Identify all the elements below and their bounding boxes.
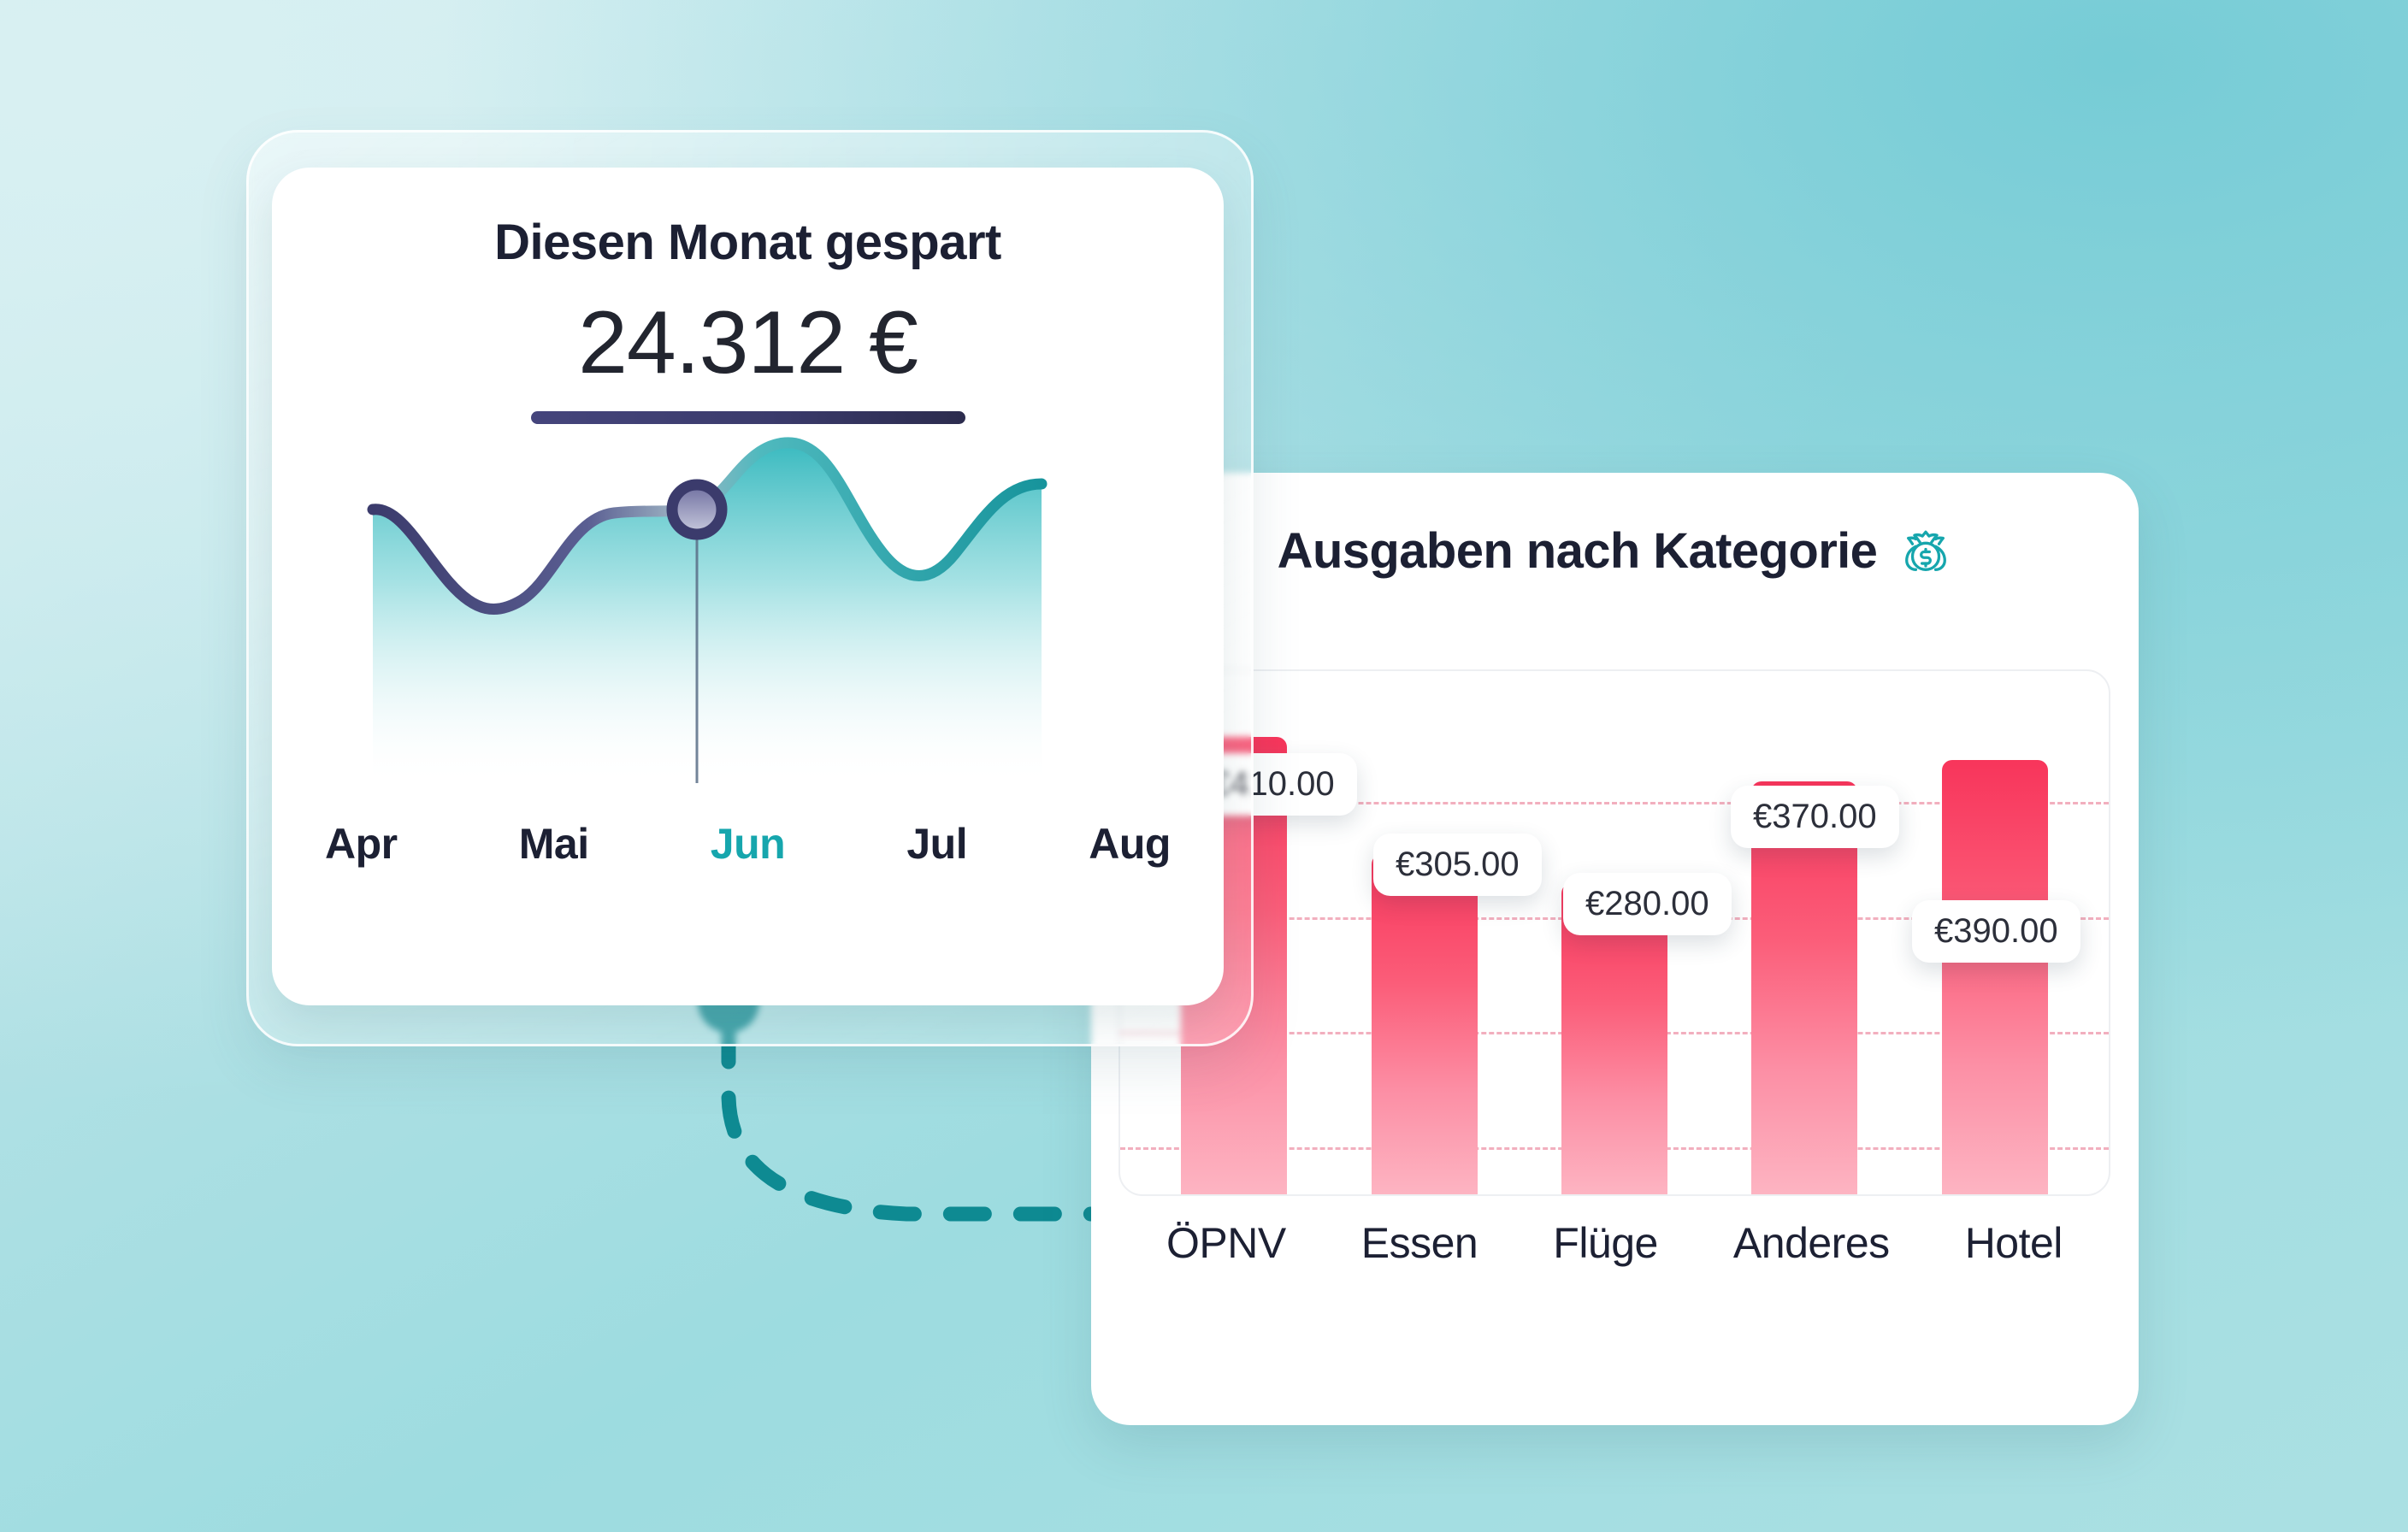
cat-label-anderes: Anderes xyxy=(1733,1218,1890,1268)
saved-amount: 24.312 € xyxy=(272,271,1224,391)
cat-label-opnv: ÖPNV xyxy=(1166,1218,1286,1268)
expenses-title: Ausgaben nach Kategorie xyxy=(1278,522,1878,580)
underline-accent-bar xyxy=(531,411,965,424)
value-tag-fluege: €280.00 xyxy=(1563,873,1732,935)
month-label-aug[interactable]: Aug xyxy=(1089,819,1171,869)
month-label-jul[interactable]: Jul xyxy=(906,819,967,869)
bar-essen[interactable] xyxy=(1372,854,1478,1194)
saved-title: Diesen Monat gespart xyxy=(272,168,1224,271)
cat-label-hotel: Hotel xyxy=(1965,1218,2063,1268)
month-label-mai[interactable]: Mai xyxy=(519,819,589,869)
month-label-jun[interactable]: Jun xyxy=(711,819,785,869)
dashboard-canvas: Ausgaben nach Kategorie xyxy=(0,0,2408,1532)
month-label-apr[interactable]: Apr xyxy=(325,819,398,869)
bar-hotel[interactable] xyxy=(1942,760,2048,1194)
savings-area-chart xyxy=(272,424,1224,783)
value-tag-essen: €305.00 xyxy=(1373,834,1542,896)
month-axis: Apr Mai Jun Jul Aug xyxy=(272,819,1224,869)
cat-label-fluege: Flüge xyxy=(1553,1218,1658,1268)
data-point-marker xyxy=(672,485,722,534)
cat-label-essen: Essen xyxy=(1361,1218,1478,1268)
money-bags-icon xyxy=(1899,525,1952,578)
expenses-category-labels: ÖPNV Essen Flüge Anderes Hotel xyxy=(1118,1218,2110,1268)
value-tag-anderes: €370.00 xyxy=(1731,786,1899,848)
dashed-path xyxy=(729,1028,1146,1214)
expenses-plot-panel: €410.00 €305.00 €280.00 €370.00 €390.00 xyxy=(1118,669,2110,1196)
saved-card: Diesen Monat gespart 24.312 € xyxy=(272,168,1224,1005)
value-tag-hotel: €390.00 xyxy=(1912,900,2080,963)
